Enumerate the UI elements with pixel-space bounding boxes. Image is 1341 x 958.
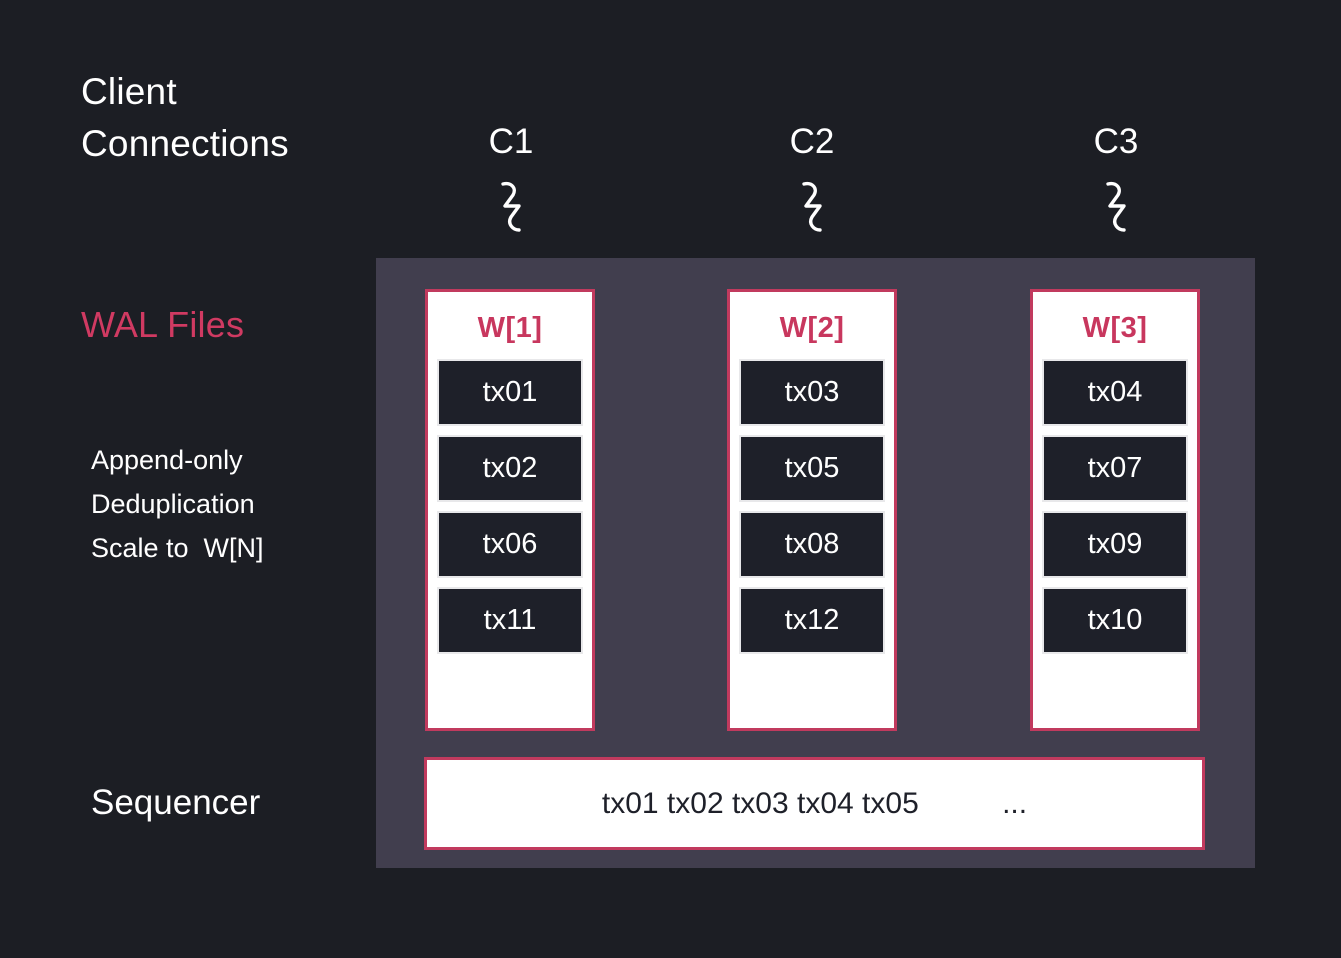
tx-box[interactable]: tx02 [437,435,583,502]
tx-box[interactable]: tx10 [1042,587,1188,654]
client-connection-c2: C2 [737,120,887,236]
client-connections-label: Client Connections [81,66,289,170]
client-connection-c2-label: C2 [737,120,887,164]
sequencer-output-bar[interactable]: tx01 tx02 tx03 tx04 tx05 ... [424,757,1205,850]
tx-box[interactable]: tx06 [437,511,583,578]
wal-file-tx-list-1: tx01 tx02 tx06 tx11 [428,359,592,654]
wal-file-card-2[interactable]: W[2] tx03 tx05 tx08 tx12 [727,289,897,731]
tx-box[interactable]: tx11 [437,587,583,654]
tx-box[interactable]: tx05 [739,435,885,502]
note-scale-to-wn: Scale to W[N] [91,526,264,570]
note-append-only: Append-only [91,438,264,482]
wal-files-label: WAL Files [81,304,244,346]
wal-file-title-1: W[1] [478,312,543,345]
sequencer-label: Sequencer [91,783,260,823]
wal-file-card-1[interactable]: W[1] tx01 tx02 tx06 tx11 [425,289,595,731]
squiggle-connector-icon [737,180,887,236]
sequencer-output-text: tx01 tx02 tx03 tx04 tx05 ... [602,787,1027,821]
tx-box[interactable]: tx03 [739,359,885,426]
wal-file-title-2: W[2] [780,312,845,345]
tx-box[interactable]: tx08 [739,511,885,578]
wal-file-title-3: W[3] [1083,312,1148,345]
note-deduplication: Deduplication [91,482,264,526]
client-connection-c3: C3 [1041,120,1191,236]
wal-file-tx-list-2: tx03 tx05 tx08 tx12 [730,359,894,654]
wal-properties-notes: Append-only Deduplication Scale to W[N] [91,438,264,570]
client-connection-c1-label: C1 [436,120,586,164]
squiggle-connector-icon [436,180,586,236]
tx-box[interactable]: tx04 [1042,359,1188,426]
tx-box[interactable]: tx07 [1042,435,1188,502]
wal-system-panel: W[1] tx01 tx02 tx06 tx11 W[2] tx03 tx05 … [376,258,1255,868]
squiggle-connector-icon [1041,180,1191,236]
wal-file-card-3[interactable]: W[3] tx04 tx07 tx09 tx10 [1030,289,1200,731]
wal-file-tx-list-3: tx04 tx07 tx09 tx10 [1033,359,1197,654]
client-connections-label-line1: Client [81,66,289,118]
client-connection-c3-label: C3 [1041,120,1191,164]
client-connections-label-line2: Connections [81,118,289,170]
tx-box[interactable]: tx01 [437,359,583,426]
tx-box[interactable]: tx09 [1042,511,1188,578]
tx-box[interactable]: tx12 [739,587,885,654]
client-connection-c1: C1 [436,120,586,236]
